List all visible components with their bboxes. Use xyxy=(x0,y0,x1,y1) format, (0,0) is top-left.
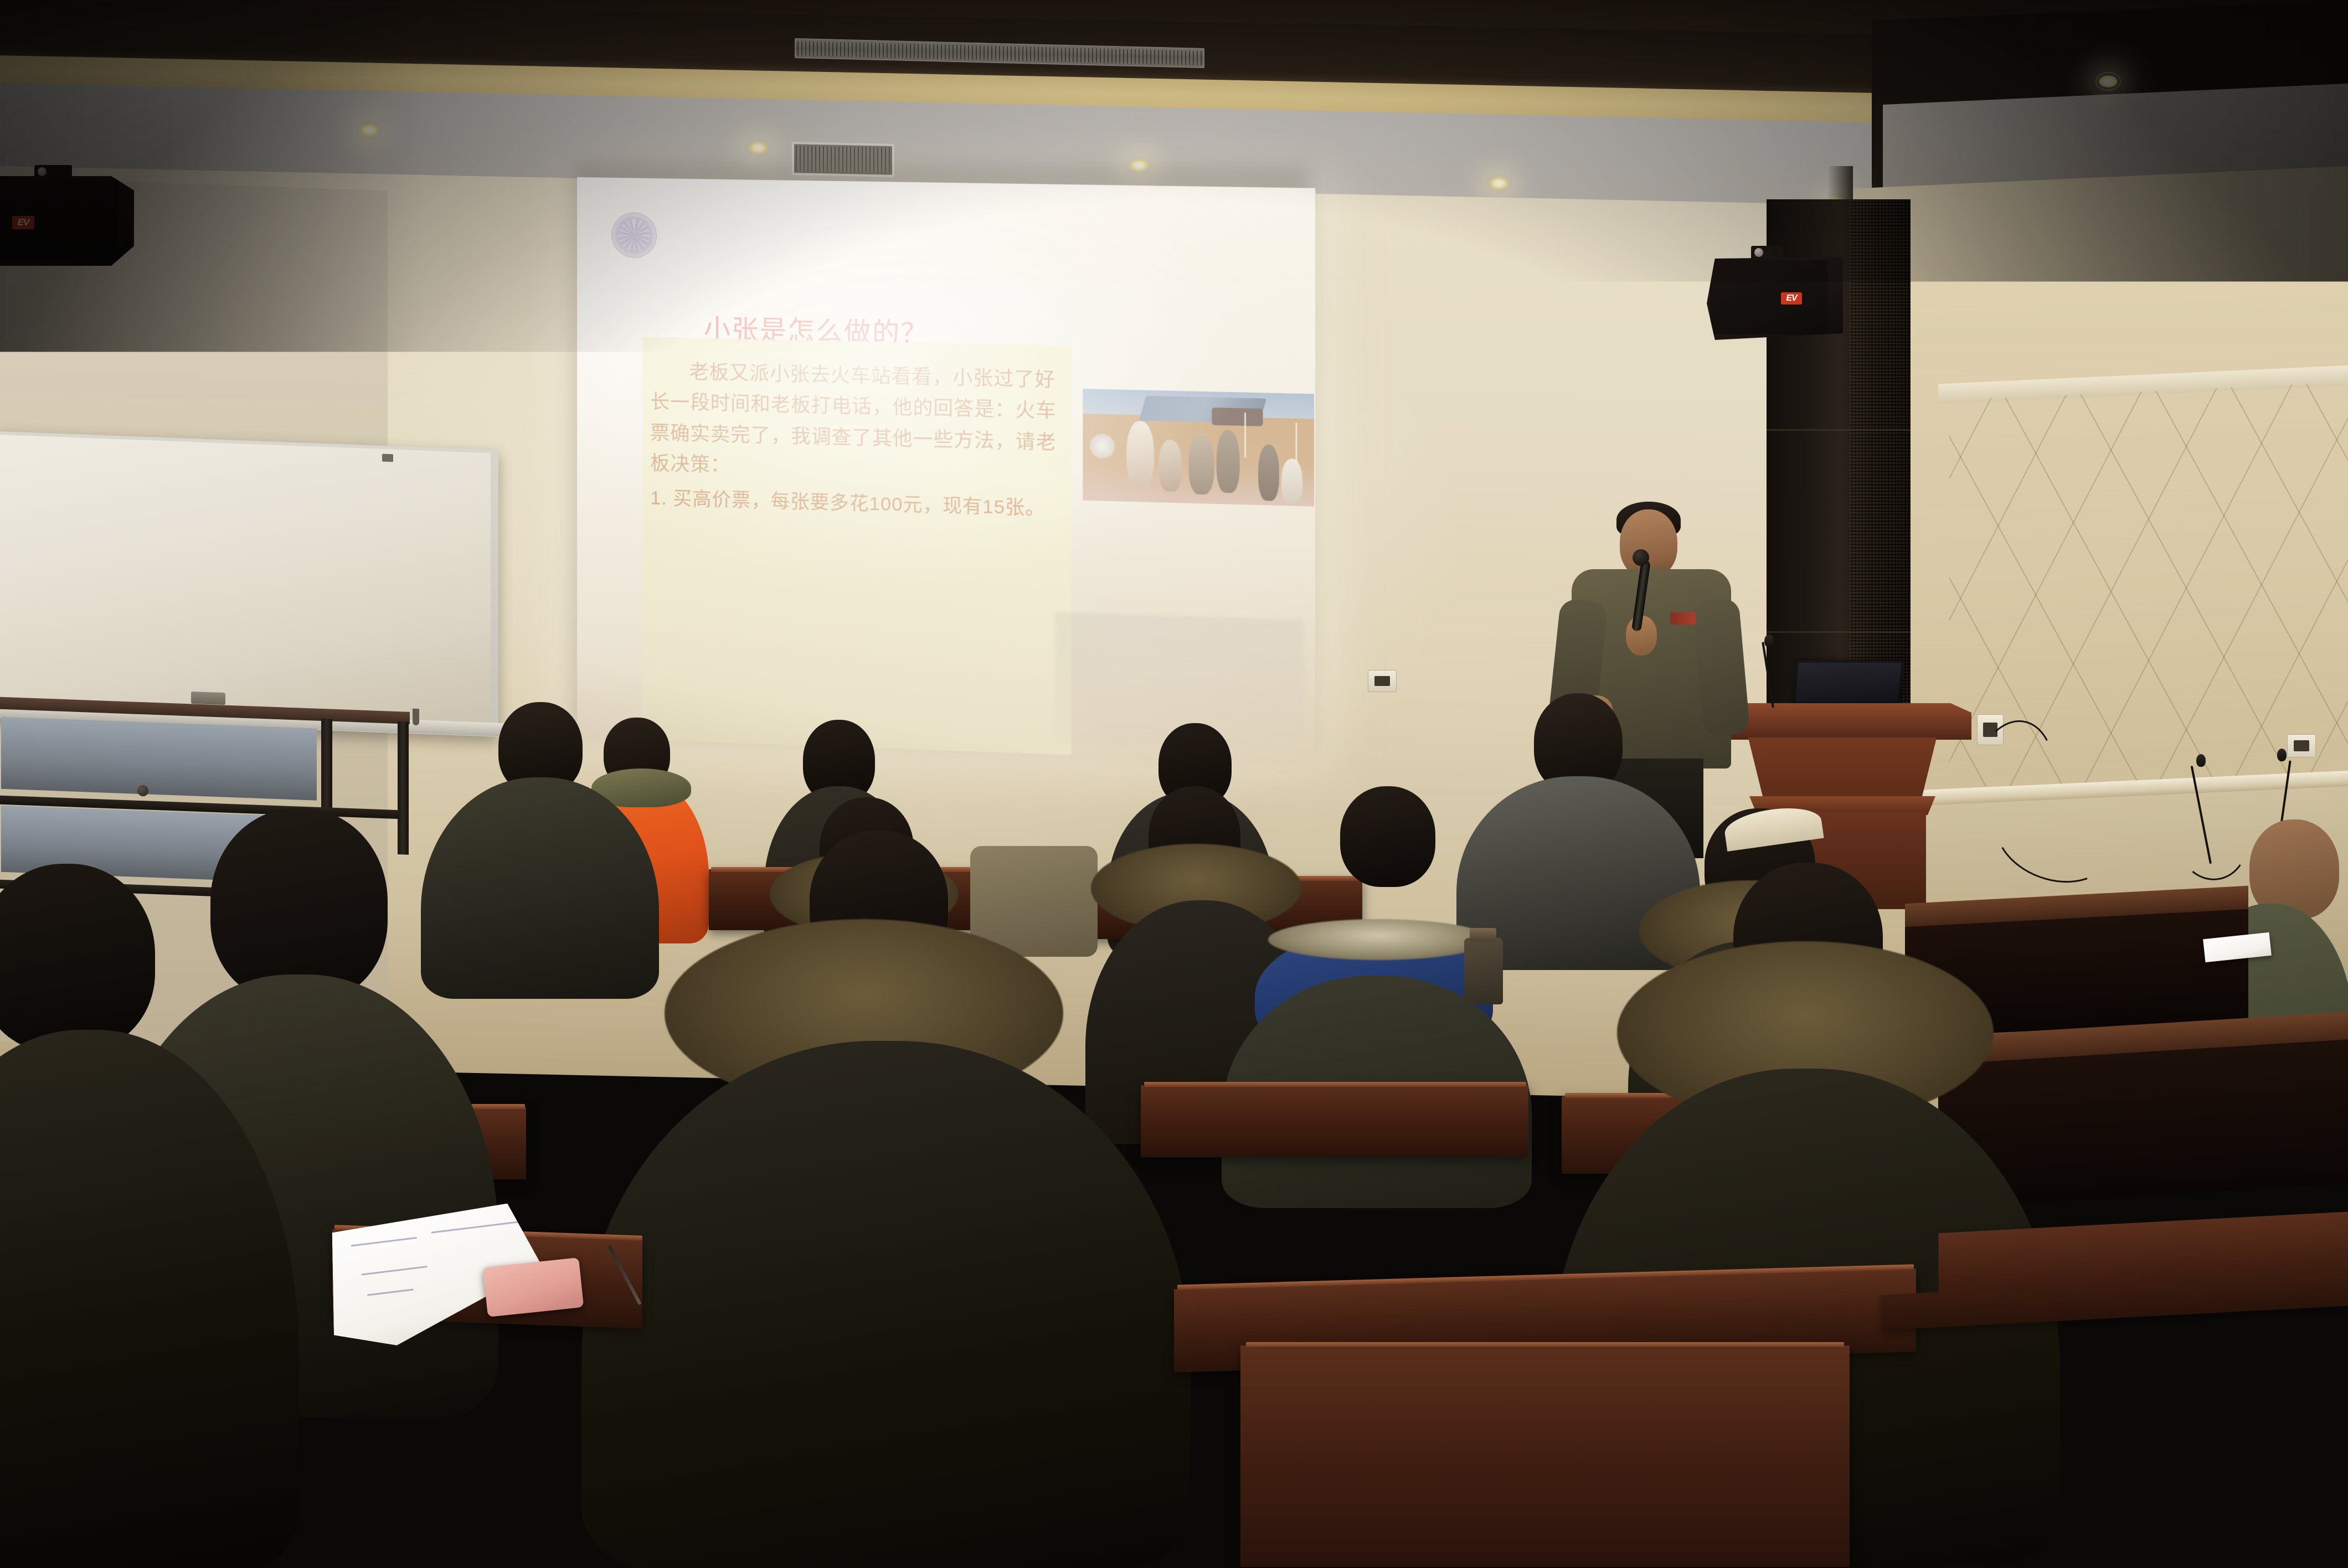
speaker-mount-bracket-right xyxy=(1751,246,1783,259)
thermos-cap xyxy=(1470,928,1496,941)
whiteboard-clip xyxy=(382,454,393,462)
wall-outlet xyxy=(2287,734,2316,757)
presenter-jacket-logo xyxy=(1670,612,1696,625)
pilaster-seam xyxy=(1767,429,1911,431)
table-microphone-icon xyxy=(2277,749,2287,761)
downlight-icon xyxy=(1490,177,1508,189)
slide-paragraph: 老板又派小张去火车站看看，小张过了好长一段时间和老板打电话，他的回答是：火车票确… xyxy=(650,356,1059,489)
handheld-microphone-head-icon xyxy=(1633,549,1649,566)
lectern-laptop[interactable] xyxy=(1793,661,1904,704)
wall-speaker-left: EV xyxy=(0,176,134,266)
projection-screen: 小张是怎么做的？ 老板又派小张去火车站看看，小张过了好长一段时间和老板打电话，他… xyxy=(577,177,1315,764)
wall-speaker-right: EV xyxy=(1707,257,1843,340)
downlight-icon xyxy=(360,124,379,136)
downlight-icon xyxy=(2099,75,2118,87)
whiteboard-surface xyxy=(0,434,491,724)
attendee-head xyxy=(1340,786,1435,887)
attendee-head xyxy=(210,808,388,1002)
speaker-mount-bracket-left xyxy=(34,165,72,179)
whiteboard-hook xyxy=(413,709,419,725)
downlight-icon xyxy=(749,142,768,154)
pilaster-seam xyxy=(1767,631,1911,633)
table-microphone-icon xyxy=(2196,754,2206,767)
lectern-microphone-icon xyxy=(1764,635,1774,647)
lectern-body xyxy=(1740,737,1945,804)
attendee-head xyxy=(0,864,155,1052)
bench-edge xyxy=(1246,1342,1844,1347)
speaker-brand-badge-right: EV xyxy=(1781,292,1802,305)
bench-desk xyxy=(1141,1085,1528,1157)
bench-edge xyxy=(1144,1082,1526,1087)
whiteboard xyxy=(0,431,498,737)
smartphone[interactable] xyxy=(483,1257,584,1317)
foreground-shadow xyxy=(0,1417,2348,1568)
lecture-hall-photo: 小张是怎么做的？ 老板又派小张去火车站看看，小张过了好长一段时间和老板打电话，他… xyxy=(0,0,2348,1568)
slide-inset-photo xyxy=(1083,389,1314,507)
wall-outlet xyxy=(1368,670,1397,692)
thermos-bottle xyxy=(1464,938,1503,1004)
speaker-brand-badge-left: EV xyxy=(12,216,34,229)
slide-body-panel: 老板又派小张去火车站看看，小张过了好长一段时间和老板打电话，他的回答是：火车票确… xyxy=(642,337,1071,764)
slide-list-item: 1. 买高价票，每张要多花100元，现有15张。 xyxy=(650,484,1059,524)
lectern-top xyxy=(1711,703,1971,740)
organization-seal-icon xyxy=(611,212,657,259)
whiteboard-eraser xyxy=(191,692,225,705)
